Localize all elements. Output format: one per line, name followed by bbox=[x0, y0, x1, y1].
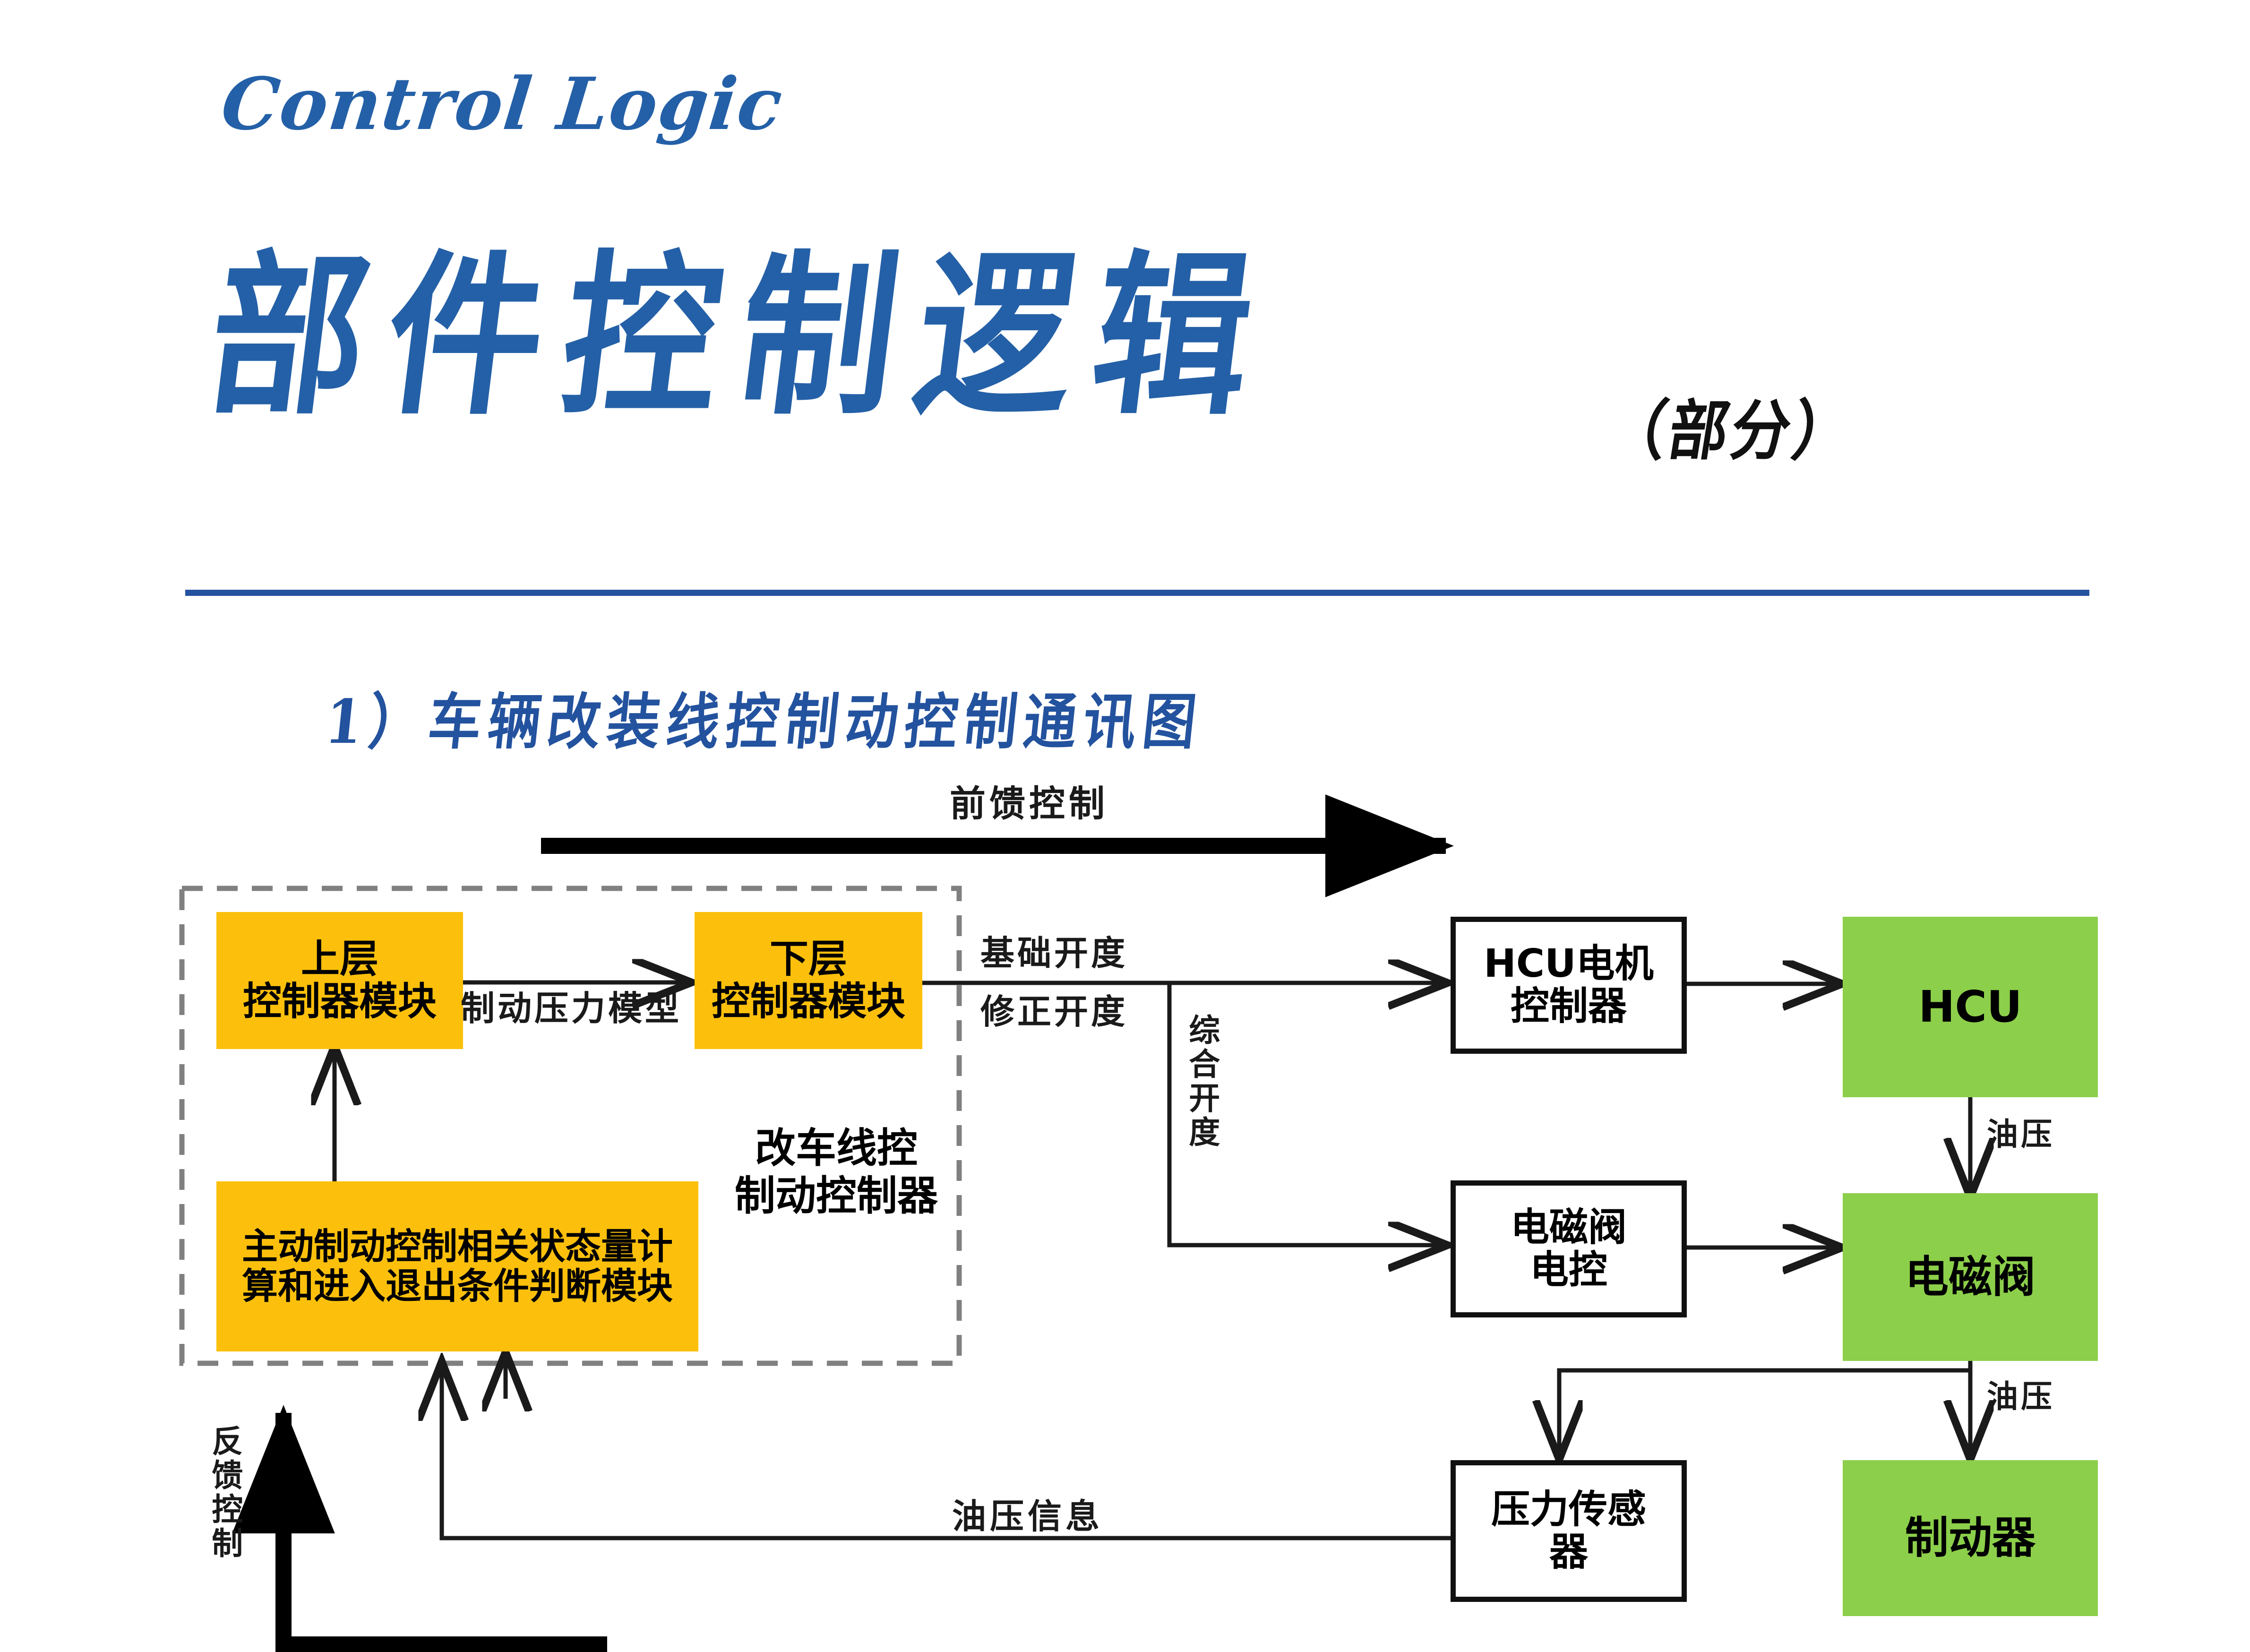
node-upper-controller[interactable]: 上层 控制器模块 bbox=[216, 912, 463, 1049]
section-subtitle: 1）车辆改装线控制动控制通讯图 bbox=[322, 673, 1208, 761]
node-solenoid-ecu[interactable]: 电磁阀 电控 bbox=[1451, 1180, 1687, 1317]
script-heading: Control Logic bbox=[218, 61, 787, 146]
control-communication-diagram: 上层 控制器模块 下层 控制器模块 主动制动控制相关状态量计 算和进入退出条件判… bbox=[0, 756, 2250, 1652]
node-hcu[interactable]: HCU bbox=[1843, 917, 2098, 1097]
node-brake[interactable]: 制动器 bbox=[1843, 1460, 2098, 1616]
edge-pressure-feedback bbox=[442, 1366, 1559, 1602]
node-hcu-motor-controller[interactable]: HCU电机 控制器 bbox=[1451, 917, 1687, 1054]
label-oil-pressure-info: 油压信息 bbox=[952, 1498, 1103, 1535]
controller-group-caption: 改车线控 制动控制器 bbox=[713, 1125, 959, 1221]
label-oil-pressure-valve: 油压 bbox=[1987, 1380, 2055, 1413]
page-title: 部件控制逻辑 bbox=[200, 246, 1282, 426]
node-solenoid-valve[interactable]: 电磁阀 bbox=[1843, 1193, 2098, 1361]
label-feedforward: 前馈控制 bbox=[950, 784, 1108, 823]
node-state-calc-module[interactable]: 主动制动控制相关状态量计 算和进入退出条件判断模块 bbox=[216, 1181, 698, 1351]
title-suffix: （部分） bbox=[1601, 378, 1864, 472]
label-feedback: 反馈控制 bbox=[208, 1425, 241, 1561]
label-brake-pressure-model: 制动压力模型 bbox=[461, 990, 682, 1027]
label-oil-pressure-hcu: 油压 bbox=[1987, 1118, 2055, 1151]
label-base-opening: 基础开度 bbox=[980, 935, 1128, 972]
slide-header: Control Logic 部件控制逻辑 （部分） bbox=[0, 0, 2250, 614]
node-pressure-sensor[interactable]: 压力传感 器 bbox=[1451, 1460, 1687, 1602]
edge-valve-to-pressure-sensor bbox=[1559, 1370, 1970, 1455]
feedback-arrow bbox=[283, 1413, 607, 1644]
node-lower-controller[interactable]: 下层 控制器模块 bbox=[695, 912, 922, 1049]
label-combined-opening: 综合开度 bbox=[1185, 1014, 1219, 1150]
label-corrected-opening: 修正开度 bbox=[980, 993, 1128, 1030]
header-divider bbox=[185, 590, 2089, 596]
